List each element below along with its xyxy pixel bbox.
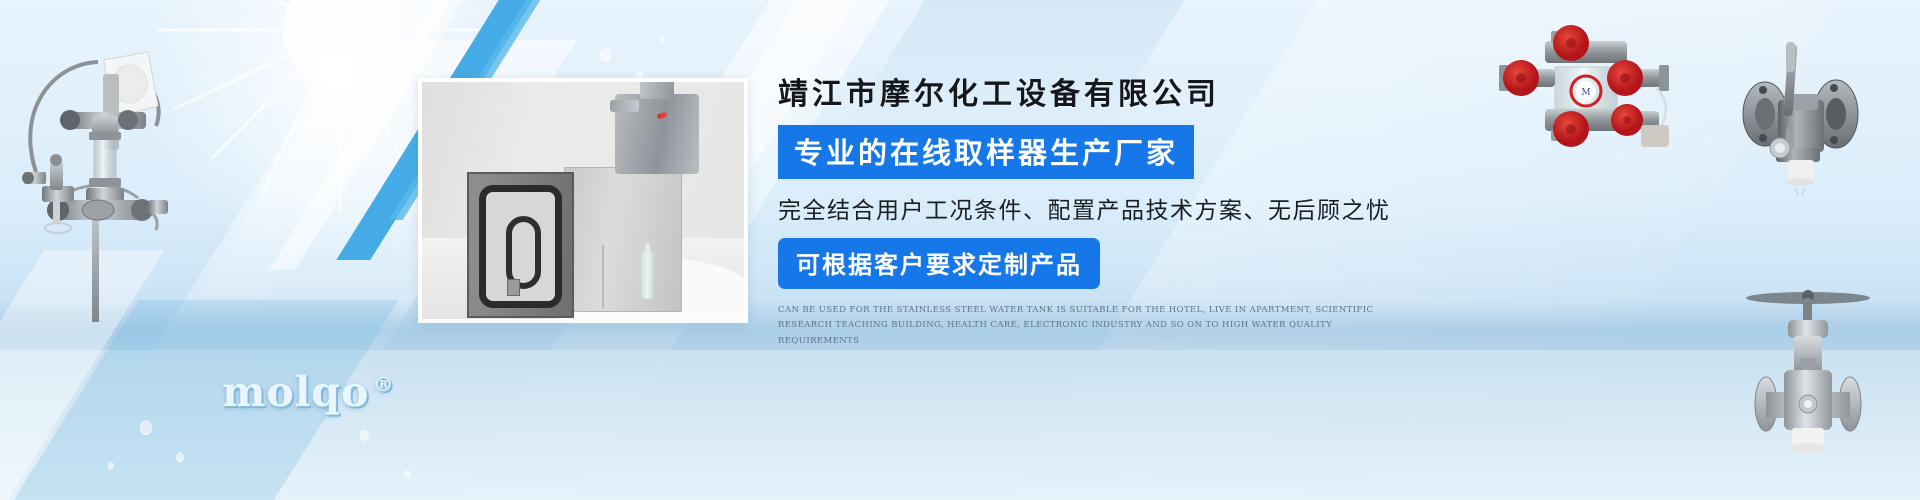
center-product-photo [418, 78, 748, 323]
water-drop-icon [660, 36, 665, 42]
slogan-highlight-bar: 专业的在线取样器生产厂家 [778, 125, 1194, 179]
product-image-lever-valve [1700, 28, 1900, 208]
brand-logo-text: molqo [222, 368, 369, 416]
english-description: CAN BE USED FOR THE STAINLESS STEEL WATE… [778, 303, 1388, 350]
custom-product-pill: 可根据客户要求定制产品 [778, 238, 1100, 289]
registered-mark-icon: ® [373, 372, 394, 396]
svg-text:M: M [1581, 88, 1590, 98]
promo-banner: 靖江市摩尔化工设备有限公司 专业的在线取样器生产厂家 完全结合用户工况条件、配置… [0, 0, 1920, 500]
slogan-text: 专业的在线取样器生产厂家 [794, 136, 1178, 170]
product-image-handwheel-valve [1708, 258, 1908, 458]
water-drop-icon [140, 420, 152, 435]
company-name: 靖江市摩尔化工设备有限公司 [778, 76, 1398, 114]
product-image-red-handwheel-valve: M [1485, 25, 1690, 155]
product-image-left-sampler [6, 22, 186, 322]
water-drop-icon [108, 462, 114, 469]
custom-product-text: 可根据客户要求定制产品 [796, 251, 1082, 279]
banner-copy: 靖江市摩尔化工设备有限公司 专业的在线取样器生产厂家 完全结合用户工况条件、配置… [778, 76, 1398, 350]
brand-logo: molqo® [222, 368, 394, 416]
description-text: 完全结合用户工况条件、配置产品技术方案、无后顾之忧 [778, 191, 1398, 225]
water-drop-icon [600, 48, 611, 62]
water-drop-icon [176, 452, 184, 462]
water-drop-icon [404, 470, 410, 477]
water-drop-icon [360, 430, 369, 441]
